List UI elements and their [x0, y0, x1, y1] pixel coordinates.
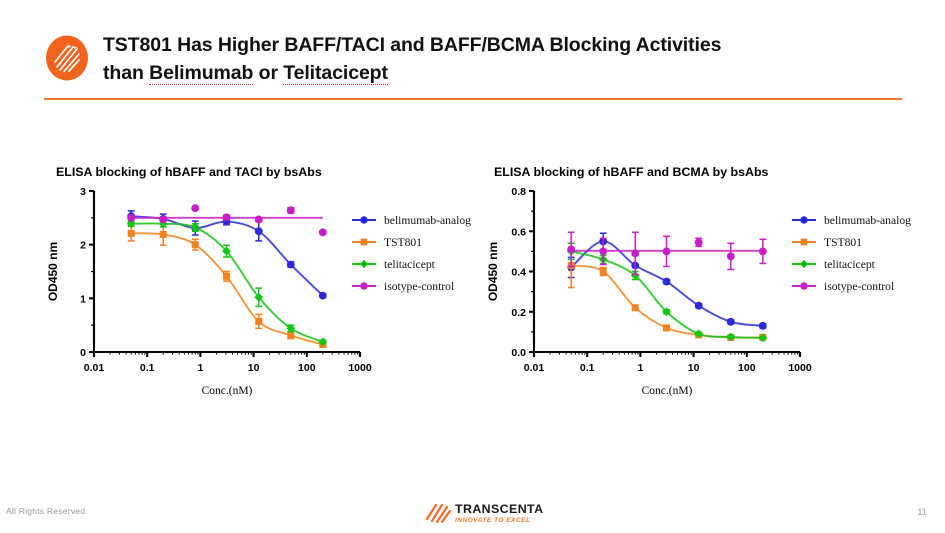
page-title-line-1: TST801 Has Higher BAFF/TACI and BAFF/BCM…	[103, 32, 893, 60]
svg-text:OD450 nm: OD450 nm	[486, 242, 500, 301]
svg-text:100: 100	[738, 362, 756, 374]
title-term-belimumab: Belimumab	[149, 62, 253, 85]
svg-text:10: 10	[688, 362, 700, 374]
legend-item-label: TST801	[384, 236, 422, 249]
legend-marker-icon	[792, 236, 816, 248]
legend-marker-icon	[352, 280, 376, 292]
legend-item-label: belimumab-analog	[384, 214, 471, 227]
svg-text:3: 3	[80, 186, 86, 198]
legend-marker-icon	[352, 236, 376, 248]
plot-taci: 0.010.111010010000123Conc.(nM)OD450 nm	[44, 183, 374, 398]
legend-marker-icon	[352, 258, 376, 270]
page-number: 11	[917, 506, 927, 517]
title-separator: or	[253, 62, 283, 84]
svg-text:Conc.(nM): Conc.(nM)	[642, 385, 693, 397]
svg-text:0.6: 0.6	[511, 226, 526, 238]
svg-text:0.1: 0.1	[140, 362, 155, 374]
legend-item-tst801[interactable]: TST801	[792, 231, 911, 253]
footer-brand: TRANSCENTA INNOVATE TO EXCEL	[455, 503, 543, 524]
legend-taci: belimumab-analogTST801telitaciceptisotyp…	[352, 209, 471, 297]
title-term-telitacicept: Telitacicept	[283, 62, 388, 85]
svg-text:1: 1	[80, 293, 86, 305]
legend-item-isotype-control[interactable]: isotype-control	[352, 275, 471, 297]
legend-item-belimumab-analog[interactable]: belimumab-analog	[792, 209, 911, 231]
svg-text:2: 2	[80, 240, 86, 252]
svg-text:10: 10	[248, 362, 260, 374]
svg-text:Conc.(nM): Conc.(nM)	[202, 385, 253, 397]
svg-text:0.2: 0.2	[511, 307, 526, 319]
legend-item-telitacicept[interactable]: telitacicept	[792, 253, 911, 275]
brand-name: TRANSCENTA	[455, 503, 543, 515]
svg-text:OD450 nm: OD450 nm	[46, 242, 60, 301]
plot-bcma: 0.010.111010010000.00.20.40.60.8Conc.(nM…	[484, 183, 814, 398]
transcenta-circle-logo-icon	[44, 35, 90, 81]
legend-item-belimumab-analog[interactable]: belimumab-analog	[352, 209, 471, 231]
slide-header: TST801 Has Higher BAFF/TACI and BAFF/BCM…	[0, 0, 945, 104]
page-title-line-2: than Belimumab or Telitacicept	[103, 60, 893, 88]
legend-item-telitacicept[interactable]: telitacicept	[352, 253, 471, 275]
legend-item-label: telitacicept	[824, 258, 875, 271]
chart-title-bcma: ELISA blocking of hBAFF and BCMA by bsAb…	[484, 165, 934, 179]
svg-text:1000: 1000	[348, 362, 372, 374]
svg-text:0.01: 0.01	[524, 362, 545, 374]
legend-item-label: TST801	[824, 236, 862, 249]
svg-text:1000: 1000	[788, 362, 812, 374]
legend-item-label: isotype-control	[824, 280, 894, 293]
legend-item-label: belimumab-analog	[824, 214, 911, 227]
legend-bcma: belimumab-analogTST801telitaciceptisotyp…	[792, 209, 911, 297]
svg-text:0.01: 0.01	[84, 362, 105, 374]
legend-item-tst801[interactable]: TST801	[352, 231, 471, 253]
svg-text:100: 100	[298, 362, 316, 374]
page-title: TST801 Has Higher BAFF/TACI and BAFF/BCM…	[103, 32, 893, 87]
svg-text:0.8: 0.8	[511, 186, 526, 198]
chart-title-taci: ELISA blocking of hBAFF and TACI by bsAb…	[44, 165, 484, 179]
legend-marker-icon	[792, 280, 816, 292]
header-divider	[44, 98, 902, 100]
legend-marker-icon	[792, 214, 816, 226]
legend-marker-icon	[352, 214, 376, 226]
svg-text:1: 1	[197, 362, 203, 374]
legend-item-isotype-control[interactable]: isotype-control	[792, 275, 911, 297]
svg-text:0.0: 0.0	[511, 347, 526, 359]
svg-text:0.4: 0.4	[511, 267, 526, 279]
brand-tagline: INNOVATE TO EXCEL	[455, 518, 543, 525]
svg-text:1: 1	[637, 362, 643, 374]
legend-marker-icon	[792, 258, 816, 270]
legend-item-label: isotype-control	[384, 280, 454, 293]
svg-text:0.1: 0.1	[580, 362, 595, 374]
rights-text: All Rights Reserved	[6, 506, 85, 516]
svg-text:0: 0	[80, 347, 86, 359]
legend-item-label: telitacicept	[384, 258, 435, 271]
title-prefix: than	[103, 62, 149, 84]
